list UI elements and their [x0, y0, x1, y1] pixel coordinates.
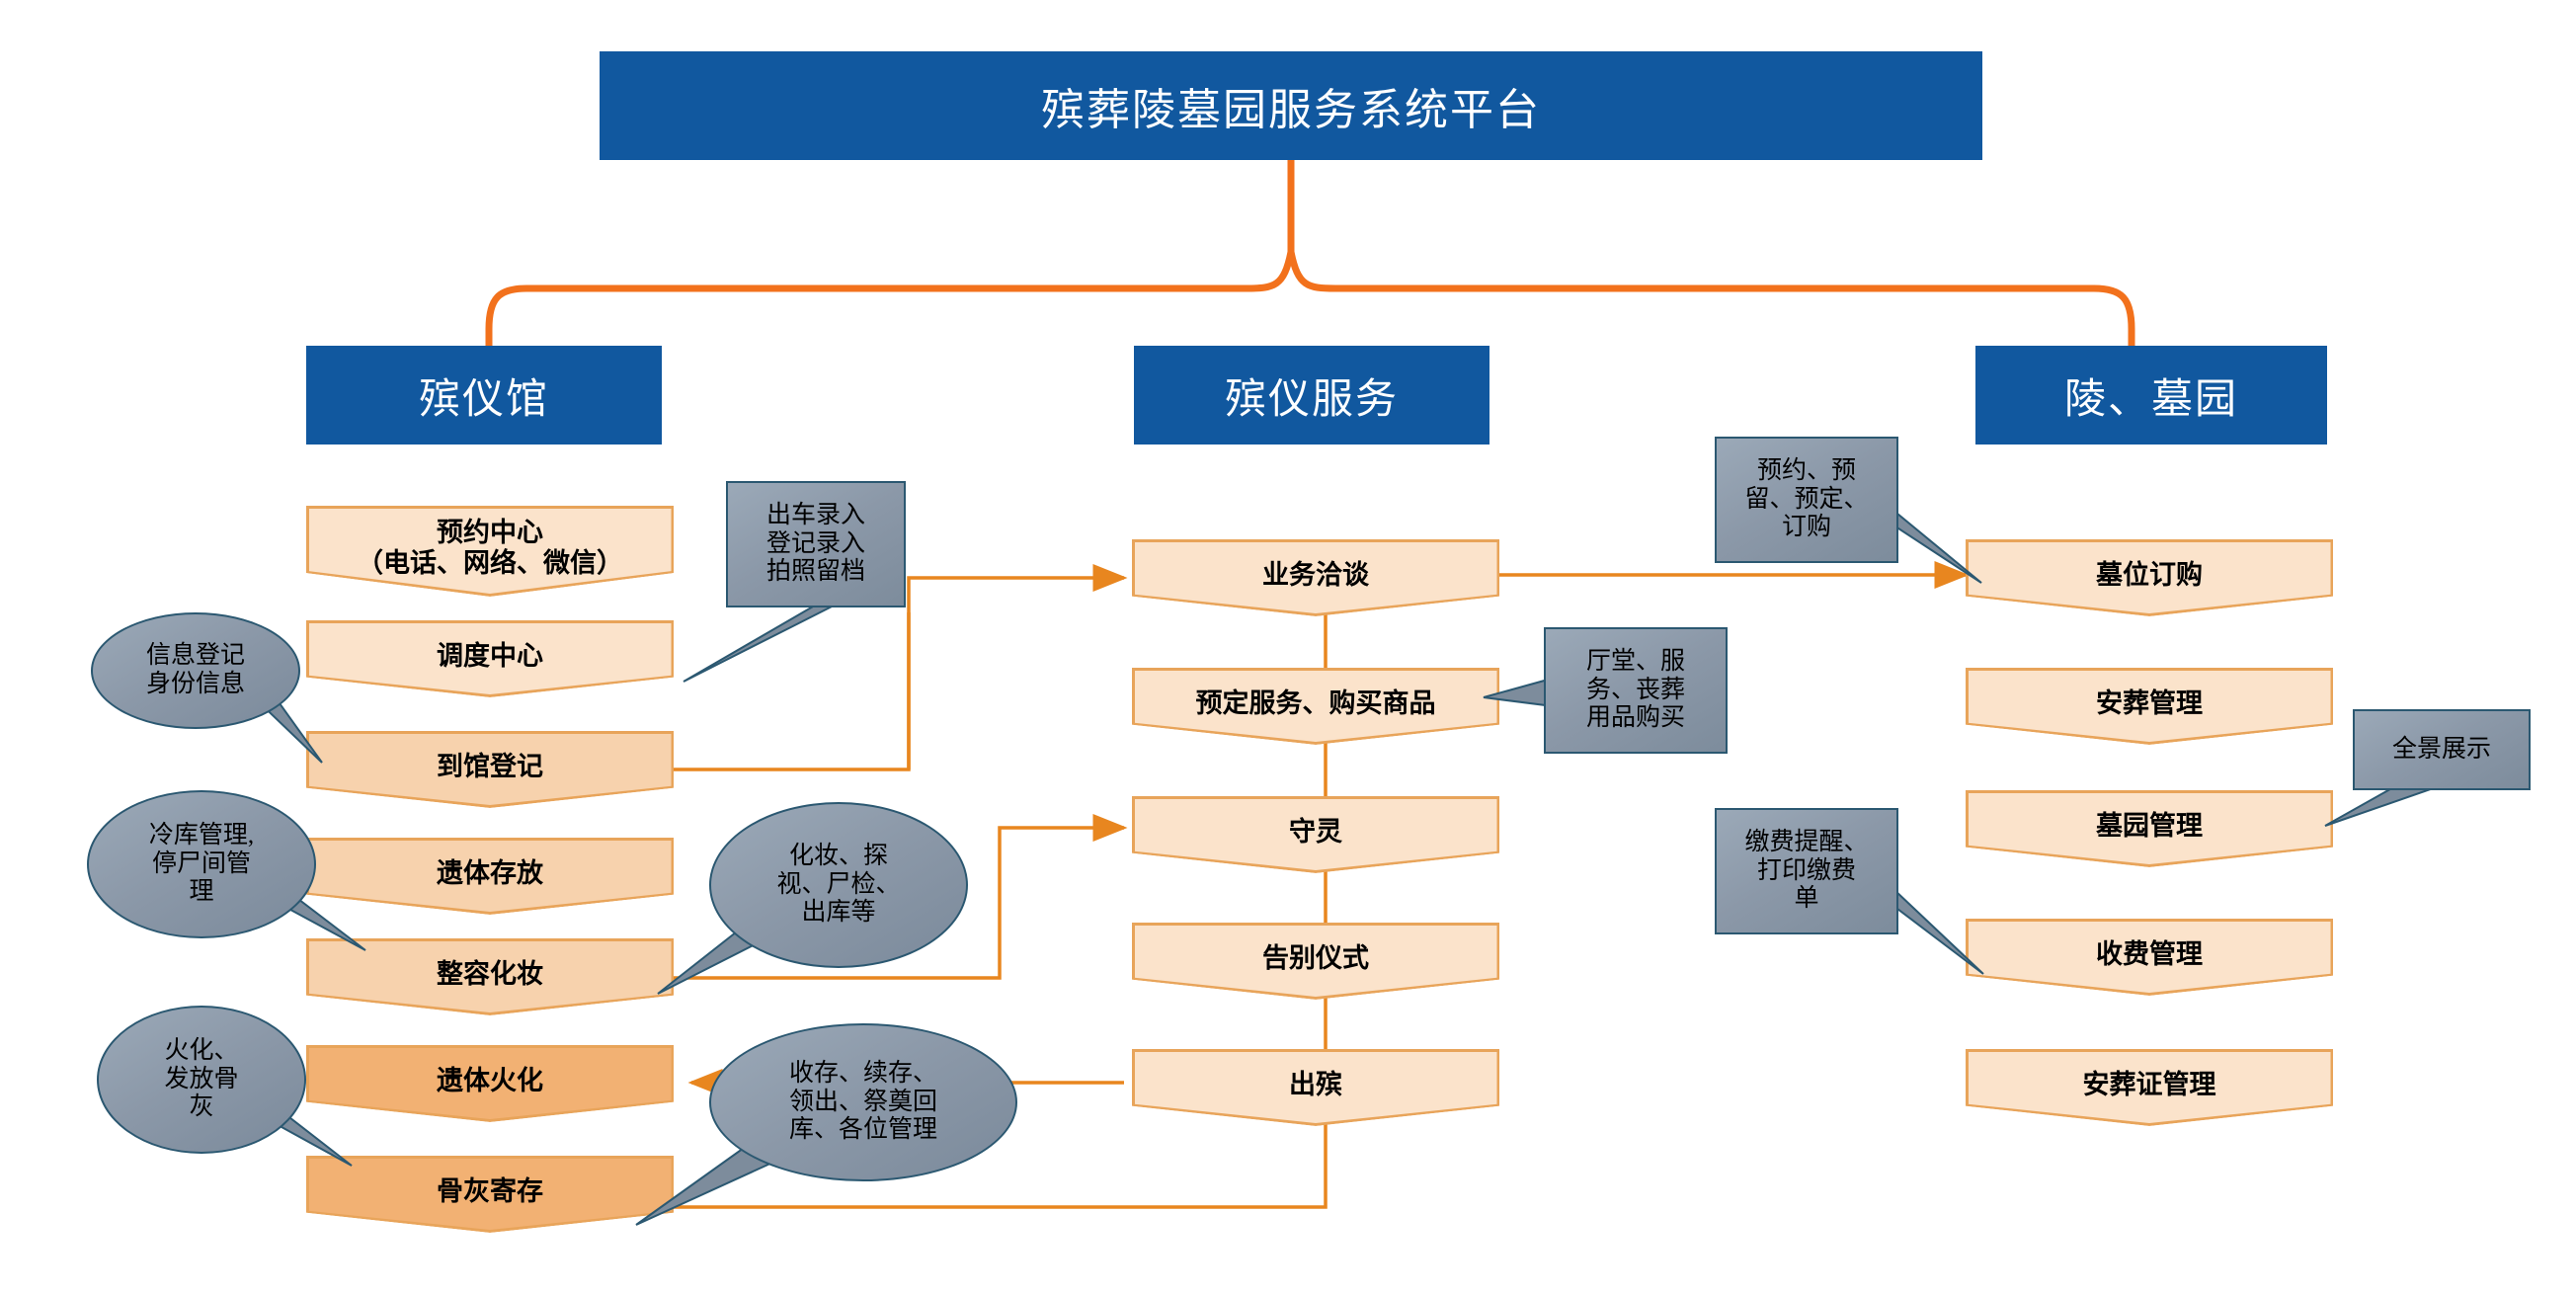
column-header-label: 殡仪服务 [1225, 365, 1399, 426]
diagram-canvas: 殡葬陵墓园服务系统平台 殡仪馆 殡仪服务 陵、墓园 预约中心 （电话、网络、微信… [0, 0, 2576, 1294]
column-header-label: 陵、墓园 [2064, 365, 2238, 426]
callout-dispatch-note: 出车录入 登记录入 拍照留档 [726, 481, 906, 607]
label-line-2: （电话、网络、微信） [357, 548, 623, 578]
callout-line-1: 全景展示 [2392, 736, 2491, 765]
callout-text: 信息登记 身份信息 [146, 642, 245, 699]
process-box-label: 到馆登记 [429, 752, 551, 781]
callout-booking-note: 预约、预 留、预定、 订购 [1715, 437, 1898, 563]
page-title: 殡葬陵墓园服务系统平台 [600, 51, 1982, 160]
process-box-label: 守灵 [1281, 817, 1350, 847]
callout-line-1: 信息登记 [146, 642, 245, 671]
callout-text: 冷库管理, 停尸间管 理 [149, 822, 254, 907]
dispatch-note-tail [672, 593, 928, 701]
callout-line-1: 火化、 [164, 1037, 238, 1066]
process-box-label: 安葬证管理 [2075, 1070, 2224, 1099]
column-header-funeral-service: 殡仪服务 [1134, 346, 1489, 445]
process-box-label: 安葬管理 [2088, 688, 2211, 718]
callout-line-2: 停尸间管 [149, 850, 254, 879]
callout-line-2: 打印缴费 [1744, 857, 1868, 886]
callout-line-2: 务、丧葬 [1586, 677, 1685, 705]
callout-line-1: 厅堂、服 [1586, 648, 1685, 677]
callout-registration-note: 信息登记 身份信息 [91, 612, 300, 729]
callout-line-2: 身份信息 [146, 671, 245, 699]
callout-line-2: 发放骨 [164, 1066, 238, 1094]
callout-line-1: 收存、续存、 [789, 1060, 937, 1089]
callout-line-1: 出车录入 [766, 502, 865, 530]
callout-line-3: 拍照留档 [766, 558, 865, 587]
process-box-label: 预约中心 （电话、网络、微信） [349, 518, 631, 577]
callout-text: 厅堂、服 务、丧葬 用品购买 [1586, 648, 1685, 733]
callout-panorama-note: 全景展示 [2353, 709, 2531, 790]
callout-line-2: 视、尸检、 [776, 871, 900, 900]
process-box-label: 调度中心 [429, 641, 551, 671]
process-box-label: 出殡 [1281, 1070, 1350, 1099]
callout-text: 出车录入 登记录入 拍照留档 [766, 502, 865, 587]
callout-line-1: 冷库管理, [149, 822, 254, 850]
column-header-cemetery: 陵、墓园 [1975, 346, 2327, 445]
callout-line-1: 化妆、探 [776, 843, 900, 871]
callout-line-3: 出库等 [776, 899, 900, 928]
process-box-label: 遗体火化 [429, 1066, 551, 1095]
callout-text: 全景展示 [2392, 736, 2491, 765]
callout-text: 化妆、探 视、尸检、 出库等 [776, 843, 900, 928]
callout-cremation-note: 火化、 发放骨 灰 [97, 1006, 306, 1154]
process-box-label: 墓位订购 [2088, 560, 2211, 590]
callout-line-2: 领出、祭奠回 [789, 1089, 937, 1117]
callout-storage-note: 冷库管理, 停尸间管 理 [87, 790, 316, 938]
column-header-label: 殡仪馆 [419, 365, 549, 426]
callout-line-1: 缴费提醒、 [1744, 829, 1868, 857]
callout-line-3: 理 [149, 878, 254, 907]
callout-line-3: 灰 [164, 1093, 238, 1122]
process-box-label: 遗体存放 [429, 858, 551, 888]
callout-hall-goods-note: 厅堂、服 务、丧葬 用品购买 [1544, 627, 1728, 754]
callout-text: 收存、续存、 领出、祭奠回 库、各位管理 [789, 1060, 937, 1145]
callout-payment-note: 缴费提醒、 打印缴费 单 [1715, 808, 1898, 934]
process-box-label: 骨灰寄存 [429, 1176, 551, 1206]
callout-line-3: 订购 [1744, 514, 1868, 542]
column-header-funeral-home: 殡仪馆 [306, 346, 662, 445]
process-box-label: 墓园管理 [2088, 811, 2211, 841]
callout-line-3: 用品购买 [1586, 704, 1685, 733]
callout-ashes-note: 收存、续存、 领出、祭奠回 库、各位管理 [709, 1023, 1017, 1181]
process-box-label: 预定服务、购买商品 [1188, 688, 1444, 718]
process-box-label: 整容化妆 [429, 959, 551, 989]
callout-line-2: 登记录入 [766, 530, 865, 559]
page-title-text: 殡葬陵墓园服务系统平台 [1041, 74, 1541, 137]
callout-line-3: 库、各位管理 [789, 1116, 937, 1145]
process-box-label: 收费管理 [2088, 939, 2211, 969]
callout-line-1: 预约、预 [1744, 457, 1868, 486]
callout-text: 预约、预 留、预定、 订购 [1744, 457, 1868, 542]
callout-line-2: 留、预定、 [1744, 486, 1868, 515]
callout-text: 火化、 发放骨 灰 [164, 1037, 238, 1122]
callout-text: 缴费提醒、 打印缴费 单 [1744, 829, 1868, 914]
process-box-label: 告别仪式 [1254, 943, 1377, 973]
label-line-1: 预约中心 [357, 518, 623, 547]
process-box-label: 业务洽谈 [1254, 560, 1377, 590]
callout-cosmetics-note: 化妆、探 视、尸检、 出库等 [709, 802, 968, 968]
callout-line-3: 单 [1744, 885, 1868, 914]
